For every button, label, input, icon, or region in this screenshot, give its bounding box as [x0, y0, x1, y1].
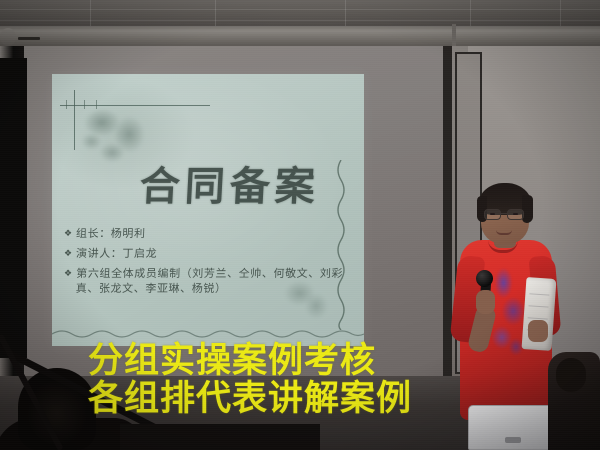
projection-screen-roller	[0, 26, 600, 48]
eye-left	[490, 213, 495, 215]
audience-head-right	[556, 358, 586, 392]
hand-holding-papers	[528, 320, 548, 342]
photo-scene: 合同备案 ❖ 组长：杨明利 ❖ 演讲人：丁启龙 ❖ 第六组全体成员编制（刘芳兰、…	[0, 0, 600, 450]
left-dark-band	[0, 58, 27, 358]
slide-bullet-list: ❖ 组长：杨明利 ❖ 演讲人：丁启龙 ❖ 第六组全体成员编制（刘芳兰、仝帅、何敬…	[64, 226, 360, 301]
slide-title: 合同备案	[138, 154, 321, 212]
bullet-text: 第六组全体成员编制（刘芳兰、仝帅、何敬文、刘彩真、张龙文、李亚琳、杨锐）	[76, 266, 349, 296]
roller-slot	[18, 37, 40, 40]
hair-side-right	[522, 195, 533, 223]
presentation-slide: 合同备案 ❖ 组长：杨明利 ❖ 演讲人：丁启龙 ❖ 第六组全体成员编制（刘芳兰、…	[52, 74, 364, 346]
diamond-bullet-icon: ❖	[64, 246, 72, 261]
ceiling	[0, 0, 600, 26]
list-item: ❖ 演讲人：丁启龙	[64, 246, 360, 261]
decorative-rule-horizontal	[60, 105, 210, 106]
caption-line-1: 分组实操案例考核	[88, 342, 508, 380]
hand-holding-microphone	[476, 290, 495, 314]
diamond-bullet-icon: ❖	[64, 266, 72, 281]
bullet-text: 组长：杨明利	[76, 226, 146, 241]
eyeglasses-bridge	[501, 213, 507, 214]
roller-bracket	[452, 24, 456, 46]
list-item: ❖ 第六组全体成员编制（刘芳兰、仝帅、何敬文、刘彩真、张龙文、李亚琳、杨锐）	[64, 266, 360, 296]
mouth-smiling	[496, 230, 512, 235]
list-item: ❖ 组长：杨明利	[64, 226, 360, 241]
eye-right	[513, 213, 518, 215]
microphone-head-icon	[476, 270, 493, 287]
caption-overlay: 分组实操案例考核 各组排代表讲解案例	[88, 342, 508, 418]
diamond-bullet-icon: ❖	[64, 226, 72, 241]
caption-line-2: 各组排代表讲解案例	[88, 380, 508, 418]
decorative-rule-vertical	[74, 90, 75, 150]
laptop-logo	[505, 437, 521, 443]
table-edge	[120, 424, 320, 450]
roller-end-cap	[0, 28, 16, 46]
wavy-line-bottom	[52, 328, 364, 340]
bullet-text: 演讲人：丁启龙	[76, 246, 158, 261]
